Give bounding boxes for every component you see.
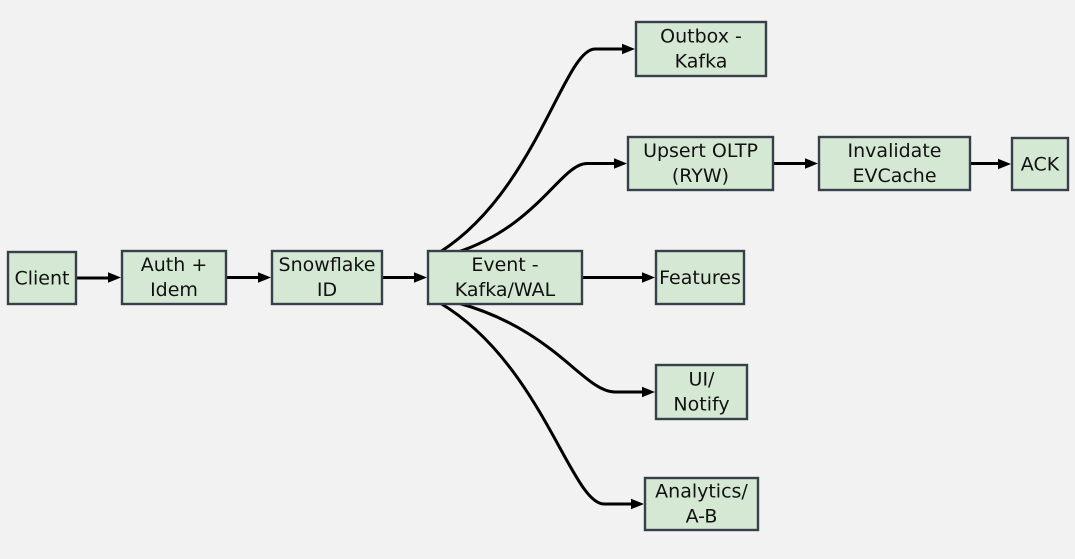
node-label-outbox-kafka-line2: Kafka [675,51,728,73]
node-label-ui-notify-line2: Notify [673,394,729,416]
node-upsert-oltp[interactable]: Upsert OLTP(RYW) [628,137,773,190]
node-label-features: Features [659,267,741,289]
node-label-analytics-ab-line2: A-B [686,506,718,528]
node-event-kafka-wal[interactable]: Event -Kafka/WAL [428,251,582,304]
node-label-event-kafka-wal-line1: Event - [471,254,538,276]
node-label-event-kafka-wal-line2: Kafka/WAL [455,279,556,301]
node-label-upsert-oltp-line2: (RYW) [672,165,729,187]
node-analytics-ab[interactable]: Analytics/A-B [645,478,758,530]
flowchart-svg: ClientAuth +IdemSnowflakeIDEvent -Kafka/… [0,0,1075,559]
node-label-ack: ACK [1021,154,1060,176]
node-label-snowflake-id-line1: Snowflake [279,254,376,276]
node-label-invalidate-evcache-line1: Invalidate [848,140,942,162]
node-label-auth-idem-line2: Idem [150,279,198,301]
node-label-client: Client [14,268,69,290]
node-ui-notify[interactable]: UI/Notify [656,365,747,419]
node-label-outbox-kafka-line1: Outbox - [660,26,742,48]
node-label-invalidate-evcache-line2: EVCache [852,165,936,187]
node-label-auth-idem-line1: Auth + [141,254,208,276]
node-snowflake-id[interactable]: SnowflakeID [272,251,382,304]
node-label-analytics-ab-line1: Analytics/ [655,481,748,503]
node-invalidate-evcache[interactable]: InvalidateEVCache [819,137,970,190]
node-client[interactable]: Client [8,252,76,304]
node-features[interactable]: Features [656,251,744,304]
node-label-upsert-oltp-line1: Upsert OLTP [643,140,758,162]
node-outbox-kafka[interactable]: Outbox -Kafka [636,22,766,76]
node-ack[interactable]: ACK [1012,138,1068,190]
node-label-ui-notify-line1: UI/ [689,369,716,391]
node-auth-idem[interactable]: Auth +Idem [122,251,226,304]
node-label-snowflake-id-line2: ID [317,279,337,301]
flowchart-canvas: ClientAuth +IdemSnowflakeIDEvent -Kafka/… [0,0,1075,559]
